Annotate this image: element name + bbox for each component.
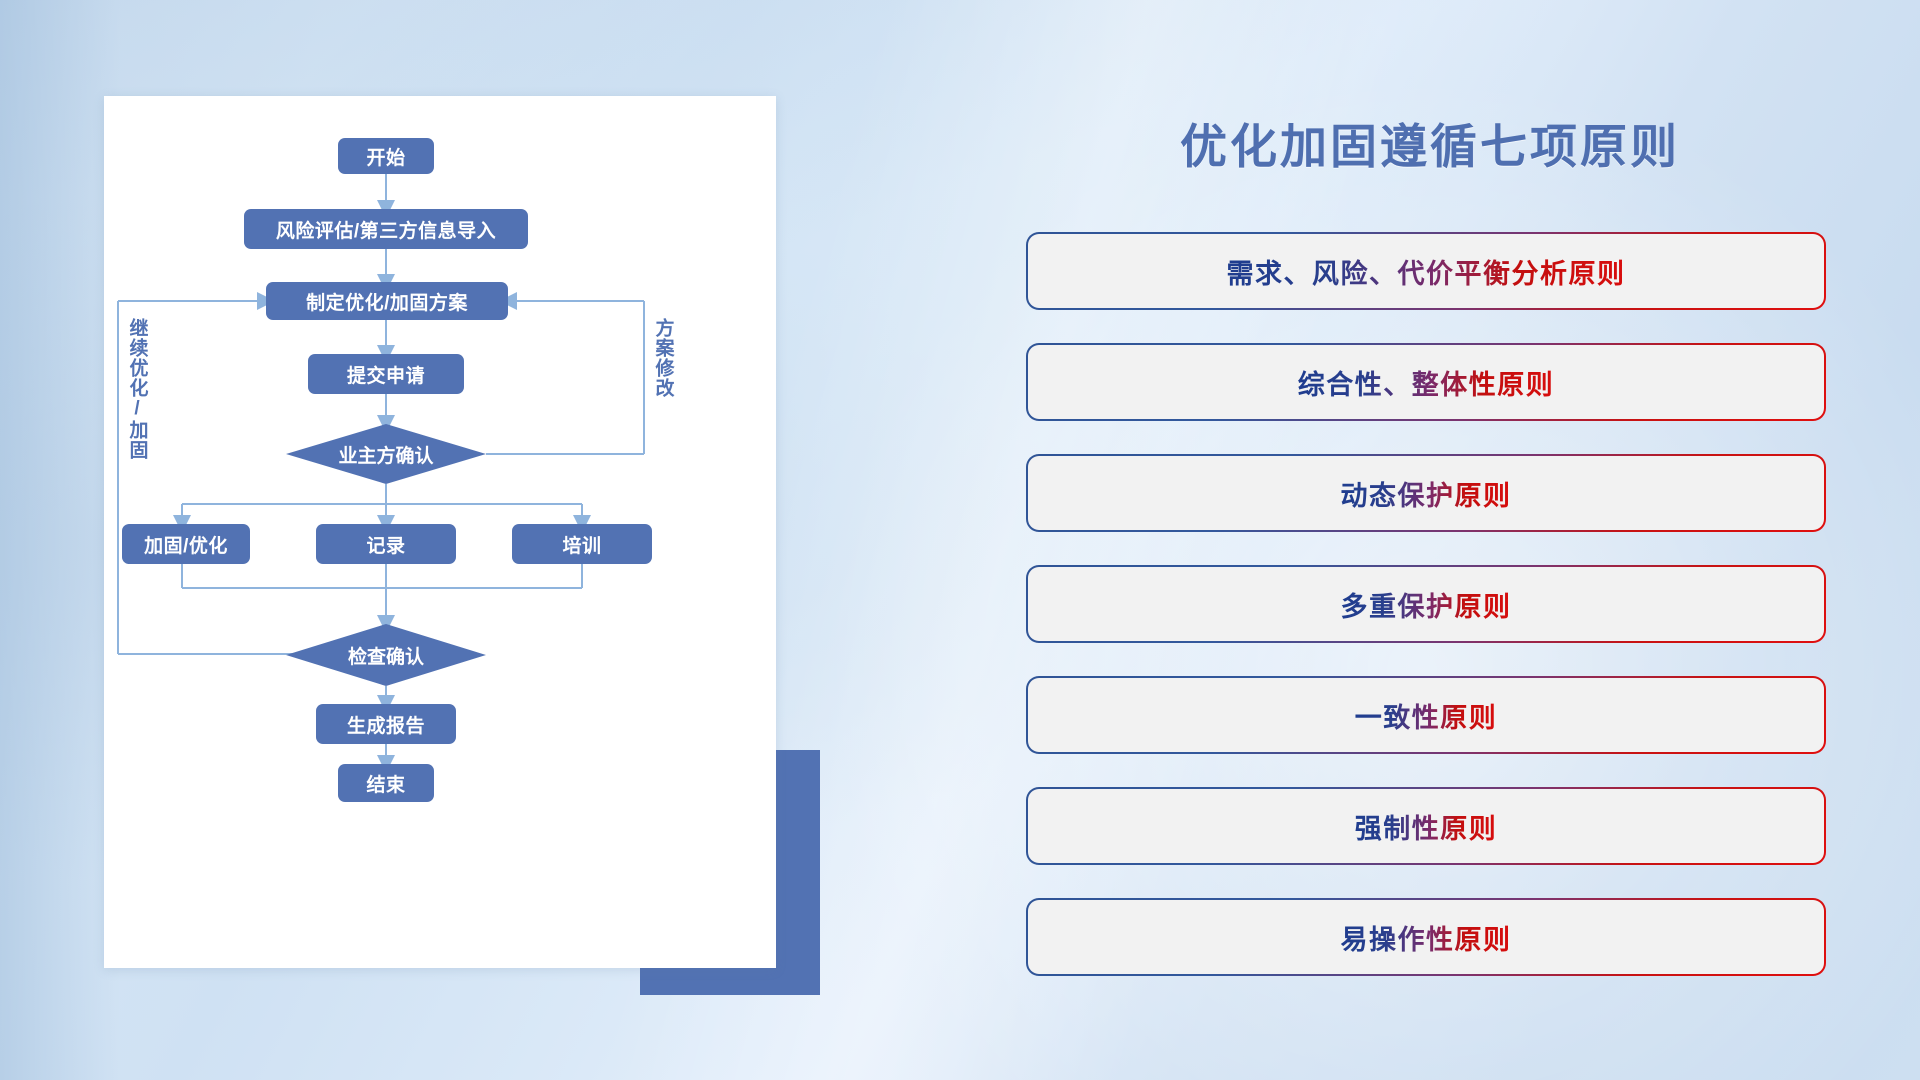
flow-node-record-label: 记录 [366,531,405,558]
principle-card-7[interactable]: 易操作性原则 [1026,898,1826,976]
principle-card-3-label: 动态保护原则 [1341,474,1512,513]
principle-card-1[interactable]: 需求、风险、代价平衡分析原则 [1026,232,1826,310]
flowchart-panel: 开始 风险评估/第三方信息导入 制定优化/加固方案 提交申请 业主方确认 加固/… [104,96,776,968]
flow-node-record[interactable]: 记录 [316,524,456,564]
flow-node-start-label: 开始 [366,143,405,170]
flow-node-training-label: 培训 [562,531,601,558]
principle-card-4-label: 多重保护原则 [1341,585,1512,624]
page-title: 优化加固遵循七项原则 [1030,108,1830,177]
flow-node-plan-label: 制定优化/加固方案 [306,288,468,315]
flow-node-report[interactable]: 生成报告 [316,704,456,744]
principles-list: 需求、风险、代价平衡分析原则 综合性、整体性原则 动态保护原则 多重保护原则 一… [1026,232,1826,1009]
slide-canvas: 开始 风险评估/第三方信息导入 制定优化/加固方案 提交申请 业主方确认 加固/… [0,0,1920,1080]
principle-card-2-label: 综合性、整体性原则 [1298,363,1555,402]
flow-decision-inspect-confirm[interactable]: 检查确认 [286,624,486,686]
flow-decision-inspect-confirm-label: 检查确认 [348,642,424,669]
principle-card-6-label: 强制性原则 [1355,807,1498,846]
flow-node-risk-assessment[interactable]: 风险评估/第三方信息导入 [244,209,528,249]
flow-node-end-label: 结束 [366,770,405,797]
flow-decision-owner-confirm-label: 业主方确认 [338,441,433,468]
flow-node-report-label: 生成报告 [347,711,425,738]
flow-node-plan[interactable]: 制定优化/加固方案 [266,282,508,320]
flow-node-submit[interactable]: 提交申请 [308,354,464,394]
flow-node-submit-label: 提交申请 [347,361,425,388]
flow-decision-owner-confirm[interactable]: 业主方确认 [286,424,486,484]
principle-card-6[interactable]: 强制性原则 [1026,787,1826,865]
principle-card-1-label: 需求、风险、代价平衡分析原则 [1227,252,1626,291]
principle-card-5[interactable]: 一致性原则 [1026,676,1826,754]
principle-card-2[interactable]: 综合性、整体性原则 [1026,343,1826,421]
principle-card-3[interactable]: 动态保护原则 [1026,454,1826,532]
flow-edge-label-right-loop: 方案修改 [652,318,673,422]
principle-card-5-label: 一致性原则 [1355,696,1498,735]
principle-card-7-label: 易操作性原则 [1341,918,1512,957]
flow-edge-label-left-loop: 继续优化/加固 [126,318,147,458]
principle-card-4[interactable]: 多重保护原则 [1026,565,1826,643]
flow-node-risk-assessment-label: 风险评估/第三方信息导入 [276,216,496,243]
flow-node-reinforce[interactable]: 加固/优化 [122,524,250,564]
flow-node-start[interactable]: 开始 [338,138,434,174]
flow-node-end[interactable]: 结束 [338,764,434,802]
flow-node-training[interactable]: 培训 [512,524,652,564]
flow-node-reinforce-label: 加固/优化 [144,531,228,558]
